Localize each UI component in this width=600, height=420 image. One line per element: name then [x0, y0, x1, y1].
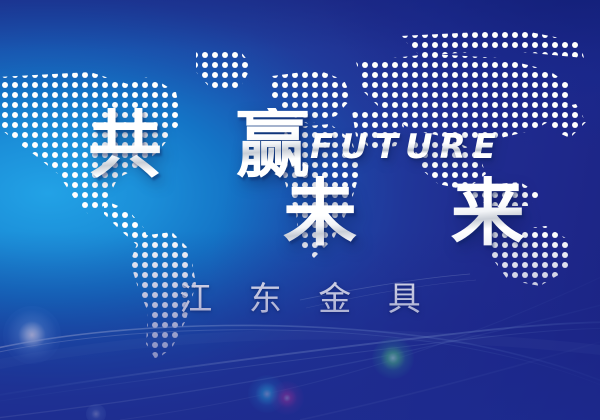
promo-banner: 共 赢 FUTURE 未 来 江 东 金 具 — [0, 0, 600, 420]
background-vignette-bottom — [0, 0, 600, 420]
